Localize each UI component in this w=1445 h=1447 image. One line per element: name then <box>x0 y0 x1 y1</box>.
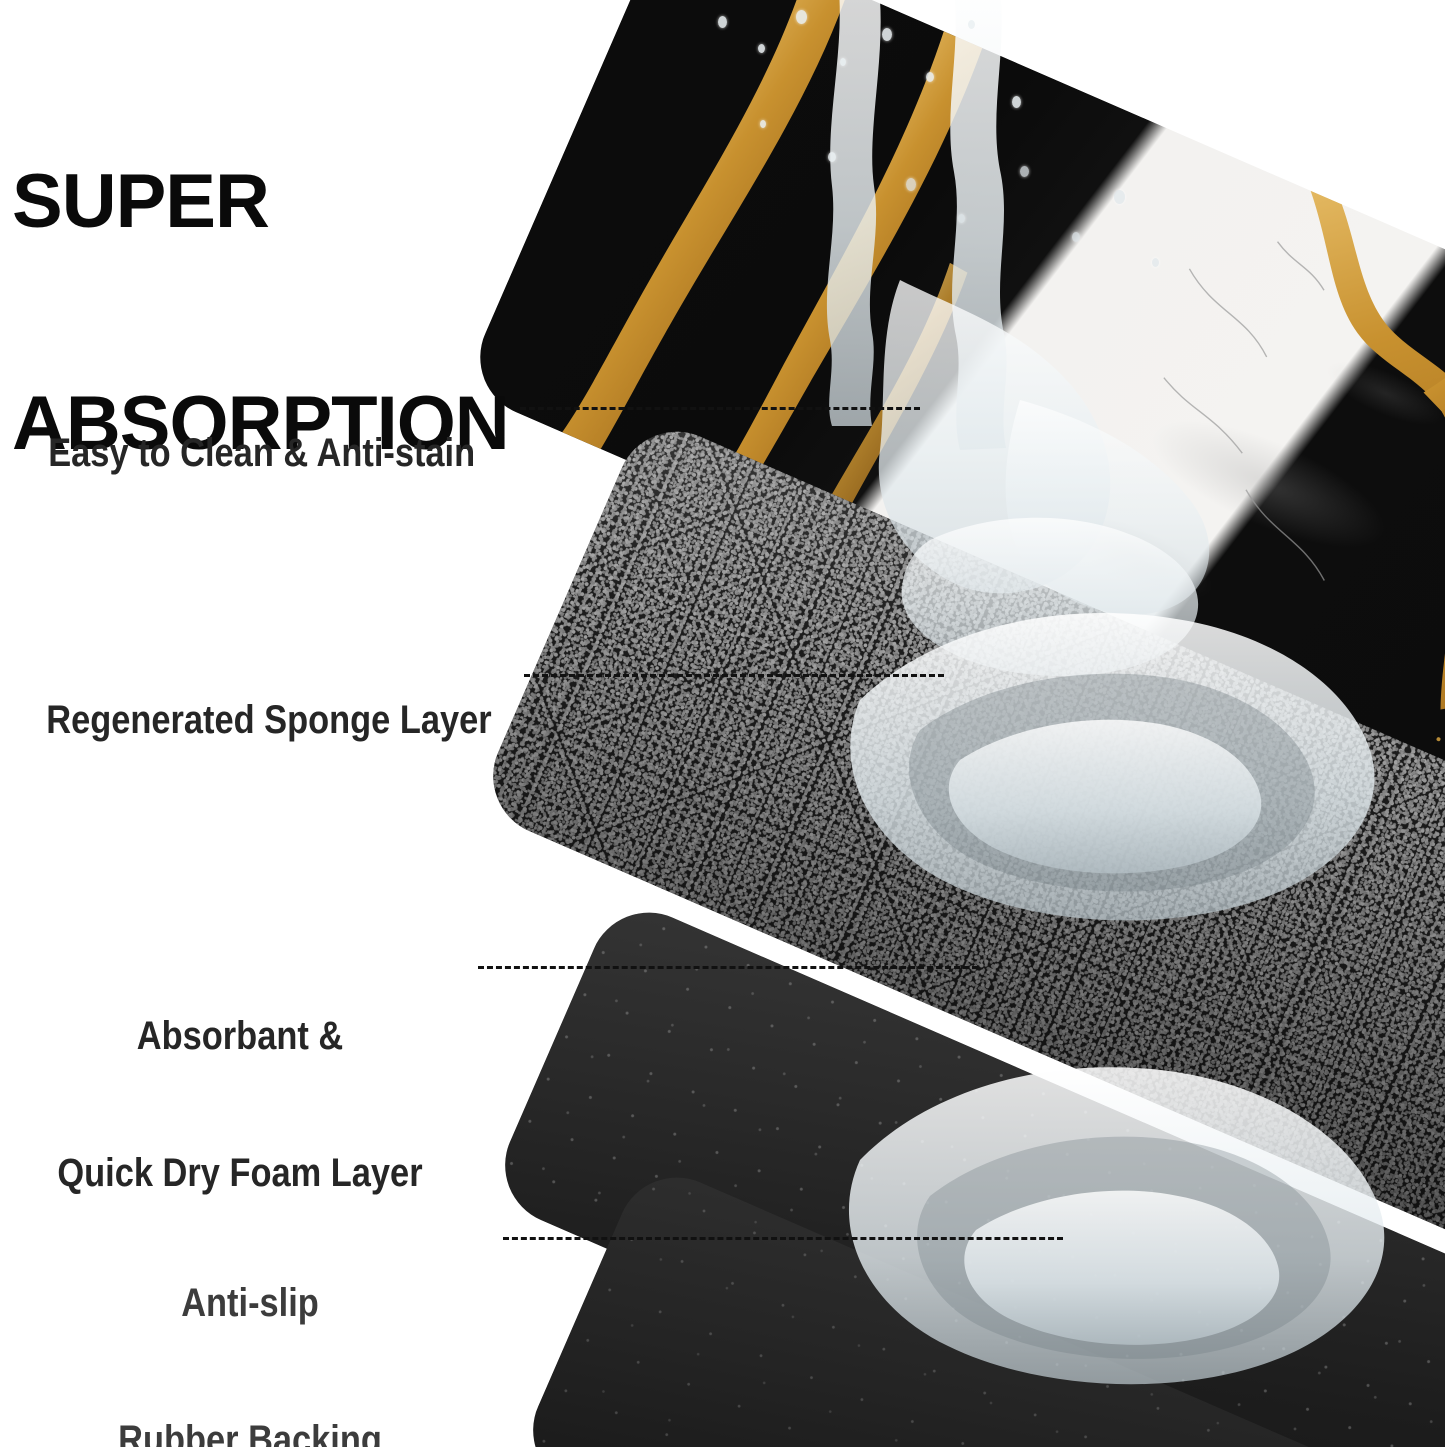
callout-sponge: Regenerated Sponge Layer <box>8 652 492 789</box>
callout-rubber: Anti-slip Rubber Backing <box>35 1190 465 1447</box>
title-line-1: SUPER <box>12 165 509 239</box>
leader-line-foam <box>478 966 978 969</box>
callout-rubber-line-1: Anti-slip <box>35 1281 465 1327</box>
leader-line-sponge <box>524 674 944 677</box>
callout-easy-clean-text: Easy to Clean & Anti-stain <box>48 431 475 475</box>
product-infographic: SUPER ABSORPTION Easy to Clean & Anti-st… <box>0 0 1445 1447</box>
callout-rubber-line-2: Rubber Backing <box>35 1418 465 1447</box>
leader-line-easy-clean <box>520 407 920 410</box>
callout-easy-clean: Easy to Clean & Anti-stain <box>10 385 475 522</box>
callout-sponge-text: Regenerated Sponge Layer <box>46 698 491 742</box>
leader-line-rubber <box>503 1237 1063 1240</box>
callout-foam-line-1: Absorbant & <box>34 1014 447 1060</box>
